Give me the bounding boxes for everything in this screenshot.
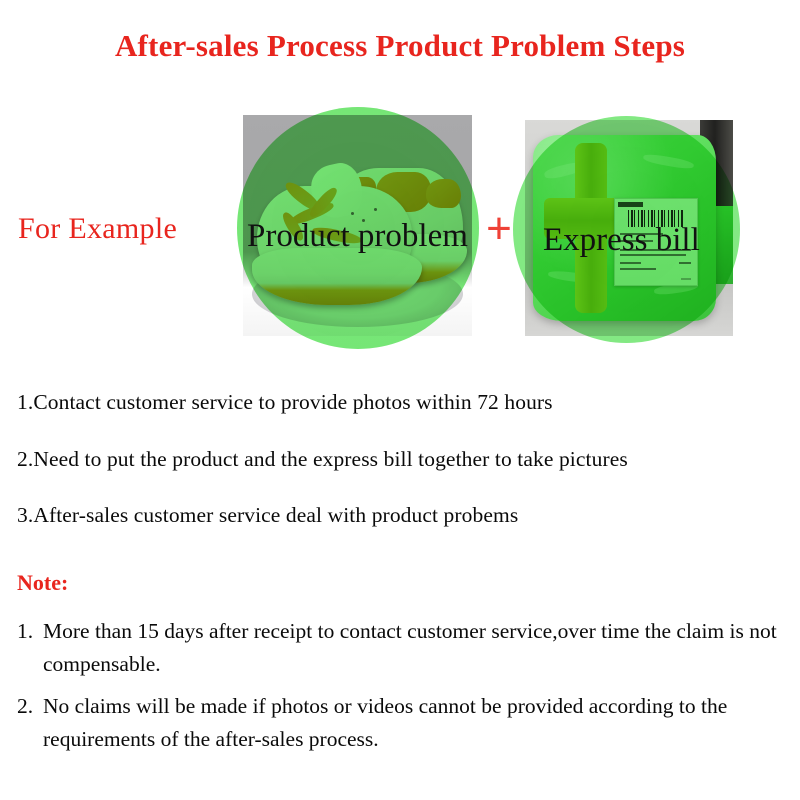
note-item-number: 2. xyxy=(17,690,43,723)
step-item-1: 1.Contact customer service to provide ph… xyxy=(17,392,787,414)
note-item: 1. More than 15 days after receipt to co… xyxy=(17,615,792,682)
note-heading: Note: xyxy=(17,570,68,596)
steps-list: 1.Contact customer service to provide ph… xyxy=(17,392,787,562)
product-problem-caption: Product problem xyxy=(247,220,468,253)
note-list: 1. More than 15 days after receipt to co… xyxy=(17,615,792,764)
note-item: 2. No claims will be made if photos or v… xyxy=(17,690,792,757)
orange-collar-2 xyxy=(426,179,460,208)
label-header-block xyxy=(618,202,643,207)
page-title: After-sales Process Product Problem Step… xyxy=(0,28,800,64)
bag-crease xyxy=(643,153,695,171)
eyelet-icon xyxy=(351,212,354,215)
express-bill-caption: Express bill xyxy=(543,224,700,257)
label-text-line xyxy=(679,262,691,264)
note-item-text: No claims will be made if photos or vide… xyxy=(43,690,792,757)
product-problem-photo: Product problem xyxy=(243,115,472,336)
note-item-number: 1. xyxy=(17,615,43,648)
step-item-3: 3.After-sales customer service deal with… xyxy=(17,505,787,527)
note-item-text: More than 15 days after receipt to conta… xyxy=(43,615,792,682)
plus-icon: + xyxy=(479,210,519,250)
label-text-line xyxy=(620,262,641,264)
express-bill-photo: Express bill xyxy=(525,120,733,336)
label-text-line xyxy=(620,268,656,270)
eyelet-icon xyxy=(374,208,377,211)
for-example-label: For Example xyxy=(18,212,177,246)
example-section: For Example Product problem + xyxy=(0,108,800,348)
step-item-2: 2.Need to put the product and the expres… xyxy=(17,449,787,471)
label-text-line xyxy=(681,278,691,280)
